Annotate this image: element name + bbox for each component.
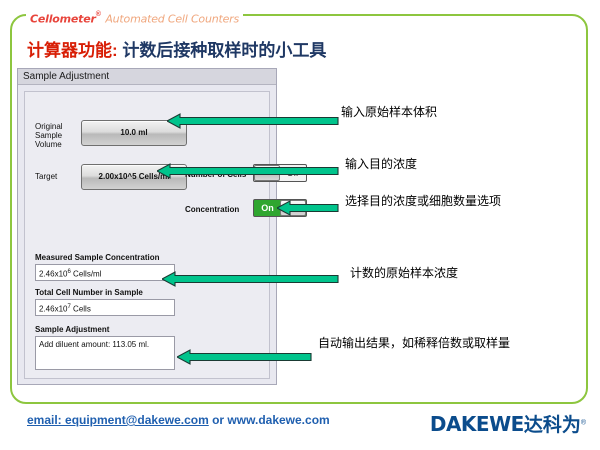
concentration-label: Concentration	[185, 205, 239, 215]
footer-contact[interactable]: email: equipment@dakewe.com or www.dakew…	[27, 413, 330, 427]
total-cell-number-value: 2.46x107 Cells	[35, 299, 175, 316]
dakewe-logo: DAKEWE达科为®	[430, 410, 586, 437]
callout-arrow-4	[162, 271, 339, 287]
logo-registered-icon: ®	[581, 420, 586, 427]
measured-sample-concentration-value: 2.46x106 Cells/ml	[35, 264, 175, 281]
brand-tagline: Automated Cell Counters	[105, 12, 239, 25]
slide-root: Cellometer® Automated Cell Counters 计算器功…	[0, 0, 600, 450]
sample-adjustment-result-label: Sample Adjustment	[35, 325, 109, 335]
brand-registered-icon: ®	[96, 11, 101, 18]
page-title: 计算器功能: 计数后接种取样时的小工具	[27, 36, 326, 61]
annotation-text-3: 选择目的浓度或细胞数量选项	[345, 193, 530, 210]
callout-arrow-2	[157, 163, 339, 179]
callout-arrow-3	[277, 200, 339, 216]
window-body: OriginalSampleVolume 10.0 ml Target 2.00…	[24, 91, 270, 379]
window-titlebar: Sample Adjustment	[18, 69, 276, 85]
callout-arrow-5	[177, 349, 312, 365]
window-title: Sample Adjustment	[23, 70, 109, 84]
total-cell-number-label: Total Cell Number in Sample	[35, 288, 143, 298]
logo-latin-text: DAKEWE	[430, 412, 524, 436]
footer-email-link[interactable]: email: equipment@dakewe.com	[27, 413, 209, 427]
brand-lockup: Cellometer® Automated Cell Counters	[26, 7, 243, 23]
target-label: Target	[35, 172, 57, 181]
measured-sample-concentration-label: Measured Sample Concentration	[35, 253, 159, 263]
annotation-text-1: 输入原始样本体积	[341, 104, 437, 121]
value-base: 2.46x10	[39, 270, 67, 279]
callout-arrow-1	[167, 113, 339, 129]
page-title-highlight: 计算器功能:	[27, 41, 118, 60]
value-base: 2.46x10	[39, 305, 67, 314]
annotation-text-2: 输入目的浓度	[345, 156, 417, 173]
value-unit: Cells/ml	[71, 270, 102, 279]
value-unit: Cells	[71, 305, 91, 314]
annotation-text-5: 自动输出结果，如稀释倍数或取样量	[318, 335, 518, 352]
footer-website[interactable]: or www.dakewe.com	[209, 413, 330, 427]
sample-adjustment-result-value: Add diluent amount: 113.05 ml.	[35, 336, 175, 370]
page-title-rest: 计数后接种取样时的小工具	[118, 41, 327, 60]
logo-han-text: 达科为	[524, 415, 581, 436]
original-sample-volume-label: OriginalSampleVolume	[35, 122, 75, 149]
annotation-text-4: 计数的原始样本浓度	[350, 265, 458, 282]
brand-name: Cellometer	[30, 12, 96, 25]
